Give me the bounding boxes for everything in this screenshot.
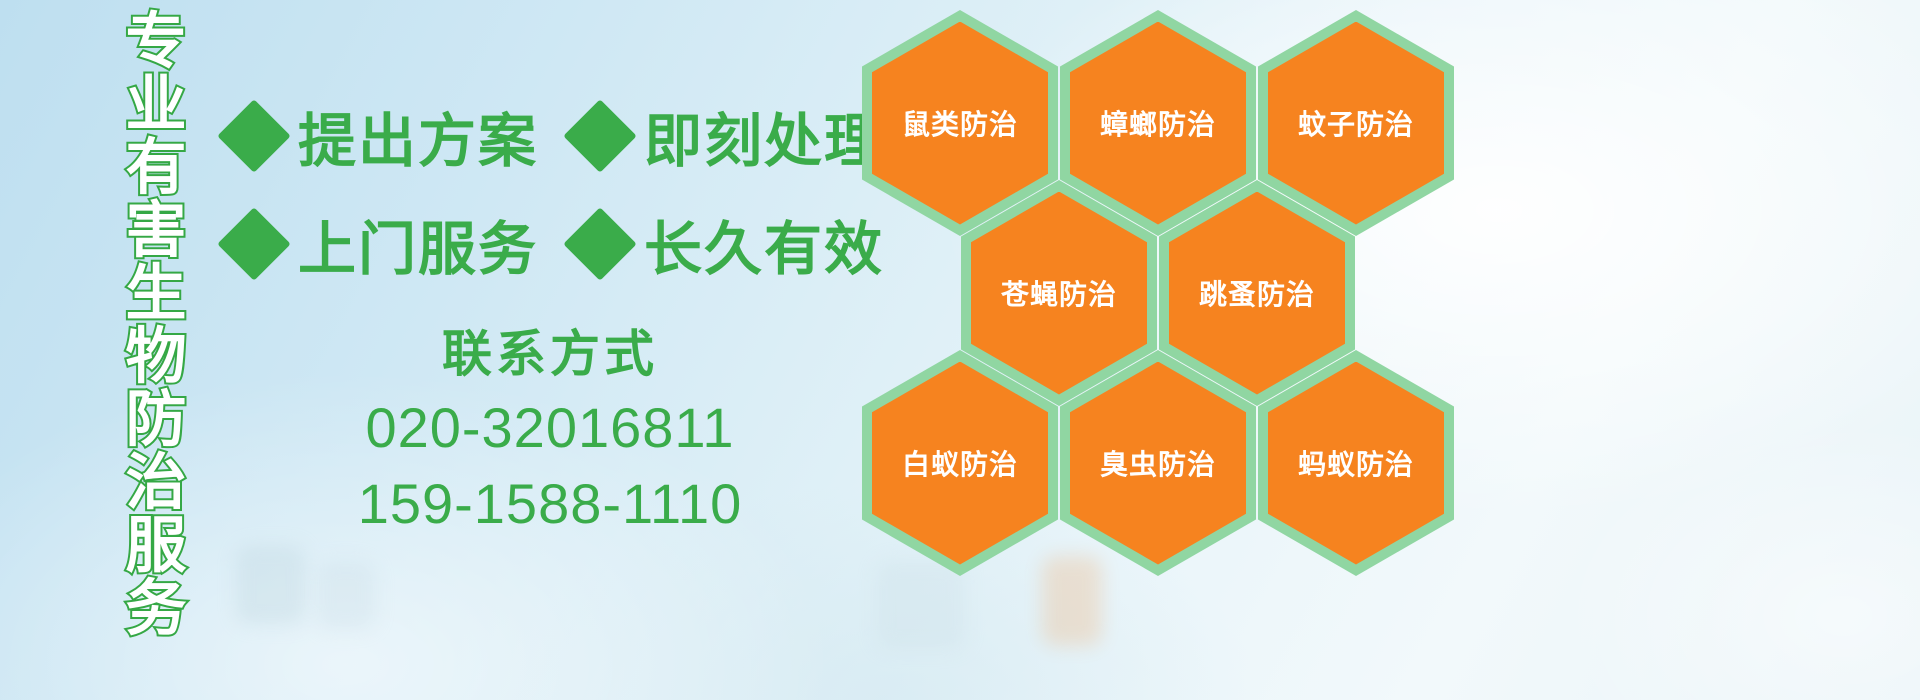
feature-label: 长久有效: [644, 202, 884, 286]
service-hex-fill: 苍蝇防治: [971, 192, 1147, 395]
service-hex-fill: 鼠类防治: [872, 22, 1048, 225]
vertical-title-char: 物: [125, 325, 186, 388]
service-hex-label: 蚂蚁防治: [1298, 443, 1414, 483]
vertical-title-char: 防: [125, 388, 186, 451]
service-hex-fill: 蚊子防治: [1268, 22, 1444, 225]
vertical-title-char: 生: [125, 262, 186, 325]
vertical-title-char: 业: [125, 73, 186, 136]
feature-item-immediate-handling: 即刻处理: [574, 94, 884, 178]
contact-title: 联系方式: [300, 318, 800, 390]
vertical-title-char: 专: [125, 10, 186, 73]
feature-item-onsite-service: 上门服务: [228, 202, 538, 286]
service-hexagon-grid: 鼠类防治 蟑螂防治 蚊子防治 苍蝇防治 跳蚤防治 白蚁防治 臭虫防治 蚂蚁防治: [862, 0, 1462, 560]
background-blob: [236, 545, 306, 625]
service-hex-label: 鼠类防治: [902, 103, 1018, 143]
service-hex-label: 臭虫防治: [1100, 443, 1216, 483]
background-blob: [876, 560, 966, 650]
feature-row: 提出方案 即刻处理: [228, 82, 878, 190]
feature-item-propose-plan: 提出方案: [228, 94, 538, 178]
contact-phone-mobile[interactable]: 159-1588-1110: [300, 466, 800, 542]
diamond-icon: [217, 207, 291, 281]
contact-phone-landline[interactable]: 020-32016811: [300, 390, 800, 466]
feature-label: 即刻处理: [644, 94, 884, 178]
background-blob: [316, 560, 376, 630]
service-hex-label: 苍蝇防治: [1001, 273, 1117, 313]
contact-block: 联系方式 020-32016811 159-1588-1110: [300, 318, 800, 542]
diamond-icon: [563, 99, 637, 173]
vertical-title-char: 务: [125, 577, 186, 640]
service-hex-fill: 跳蚤防治: [1169, 192, 1345, 395]
vertical-title-char: 治: [125, 451, 186, 514]
service-hex-label: 蚊子防治: [1298, 103, 1414, 143]
vertical-title-char: 害: [125, 199, 186, 262]
service-hex-fill: 蟑螂防治: [1070, 22, 1246, 225]
feature-label: 上门服务: [298, 202, 538, 286]
vertical-title-char: 有: [125, 136, 186, 199]
feature-label: 提出方案: [298, 94, 538, 178]
feature-item-long-lasting: 长久有效: [574, 202, 884, 286]
vertical-title-char: 服: [125, 514, 186, 577]
service-hex-label: 跳蚤防治: [1199, 273, 1315, 313]
service-hex-label: 蟑螂防治: [1100, 103, 1216, 143]
background-blob: [1042, 556, 1102, 646]
vertical-brand-title: 专 业 有 害 生 物 防 治 服 务: [108, 10, 204, 570]
service-hex-fill: 臭虫防治: [1070, 362, 1246, 565]
service-hex-fill: 蚂蚁防治: [1268, 362, 1444, 565]
diamond-icon: [563, 207, 637, 281]
feature-row: 上门服务 长久有效: [228, 190, 878, 298]
diamond-icon: [217, 99, 291, 173]
service-hex-fill: 白蚁防治: [872, 362, 1048, 565]
feature-list: 提出方案 即刻处理 上门服务 长久有效: [228, 82, 878, 298]
service-hex-label: 白蚁防治: [902, 443, 1018, 483]
